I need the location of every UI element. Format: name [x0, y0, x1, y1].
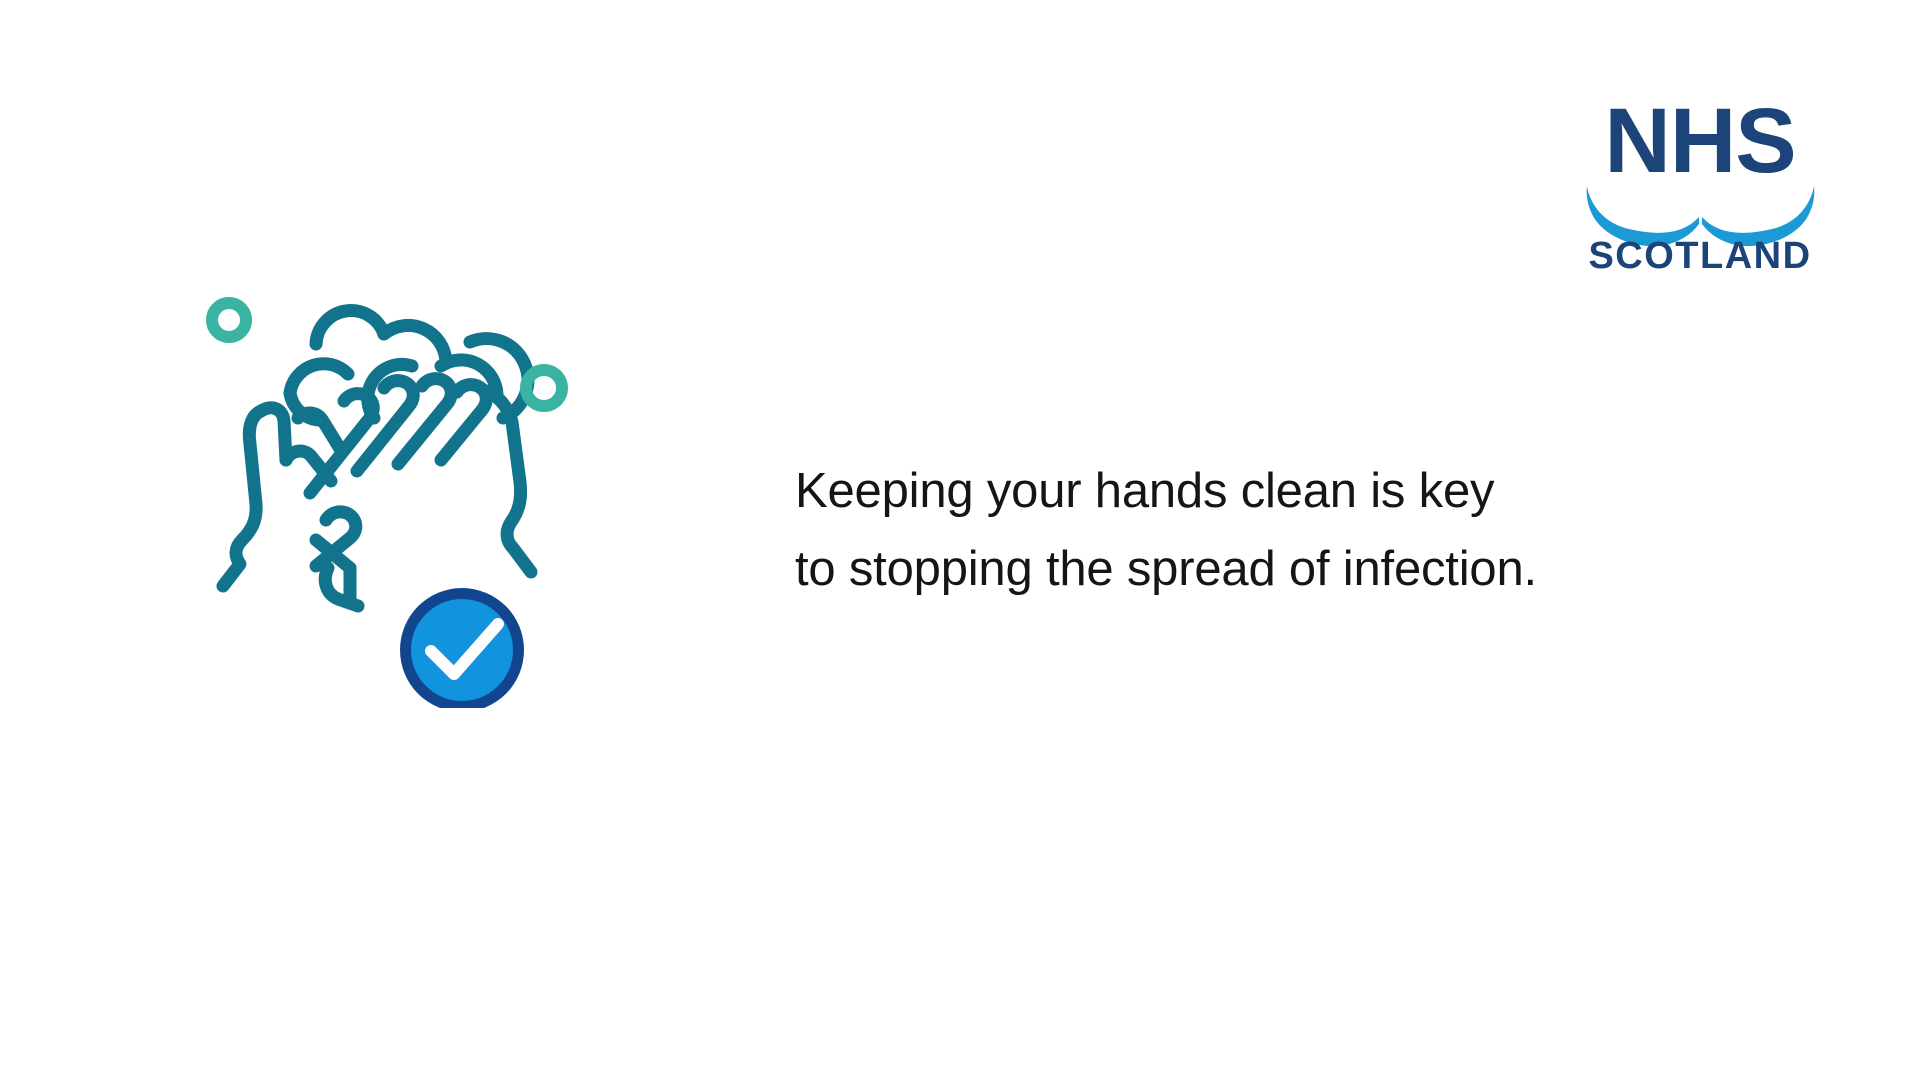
soap-bubble-arc-1: [316, 311, 384, 344]
right-hand-outline: [483, 390, 531, 572]
nhs-wordmark-text: NHS: [1604, 90, 1795, 192]
accent-ring-left-icon: [212, 303, 246, 337]
left-hand-thumb: [261, 408, 286, 460]
left-hand-outline: [223, 411, 261, 586]
headline-text: Keeping your hands clean is key to stopp…: [795, 452, 1695, 608]
nhs-scotland-logo: NHS SCOTLAND: [1583, 88, 1818, 288]
accent-ring-right-icon: [526, 370, 562, 406]
scotland-wordmark-text: SCOTLAND: [1588, 235, 1811, 277]
poster-canvas: NHS SCOTLAND: [0, 0, 1920, 1080]
headline-line-1: Keeping your hands clean is key: [795, 452, 1695, 530]
headline-line-2: to stopping the spread of infection.: [795, 530, 1695, 608]
soap-bubble-arc-2: [384, 325, 446, 362]
check-badge: [400, 588, 524, 708]
hands-washing-illustration: [198, 268, 598, 708]
soap-bubble-arc-3: [290, 364, 348, 393]
